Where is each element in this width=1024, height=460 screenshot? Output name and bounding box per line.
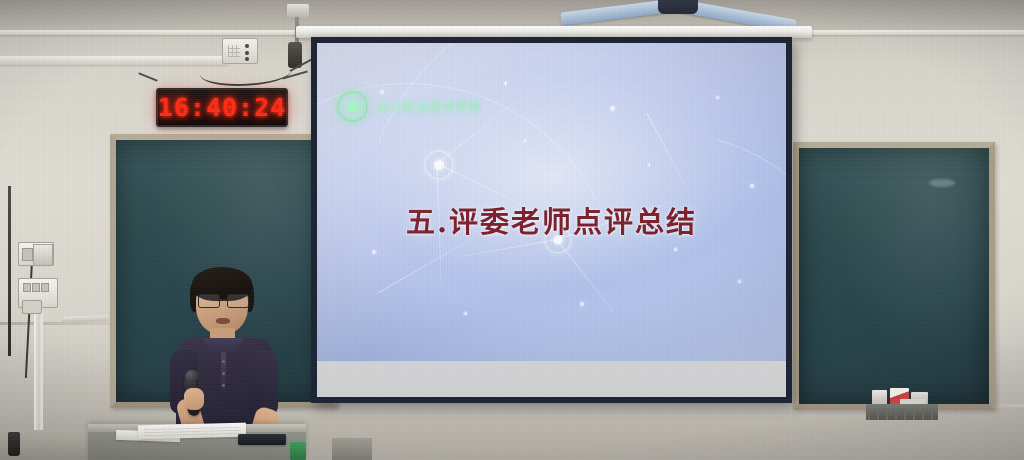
hand-left [184,388,204,410]
mouth [216,318,230,324]
green-object [290,442,306,460]
wall-conduit [0,56,228,65]
socket[interactable] [23,283,31,292]
socket[interactable] [32,283,40,292]
slide-logo: 长江职业技术学院 [337,91,481,122]
chalk-tray [866,404,938,420]
panel-button[interactable] [245,44,249,48]
blackboard-right [793,142,995,410]
classroom-scene: 16:40:24 [0,0,1024,460]
lens [198,294,220,308]
school-name-text: 长江职业技术学院 [377,98,481,115]
hanging-cable [8,186,11,356]
dark-cup [8,432,20,456]
phone-on-desk [238,434,286,445]
board-glare [799,148,989,404]
wall-trim-left [0,322,120,325]
shirt-button [222,372,225,375]
eyeglasses [198,294,247,306]
school-emblem-icon [337,91,368,122]
shirt-button [222,384,225,387]
switch[interactable] [22,248,33,261]
chair-backrest [332,438,372,460]
clock-time-display: 16:40:24 [158,93,286,122]
power-plug [22,300,42,314]
bridge [218,299,227,301]
socket[interactable] [41,283,49,292]
led-wall-clock: 16:40:24 [156,88,288,127]
chalk-smudge [929,179,955,187]
lens [227,294,249,308]
projection-screen: 长江职业技术学院 五.评委老师点评总结 [311,37,792,403]
projector-mount-bracket [287,4,309,18]
fan-motor-hub [658,0,698,14]
junction-box [33,244,53,266]
projected-slide: 长江职业技术学院 五.评委老师点评总结 [317,43,786,361]
slide-title: 五.评委老师点评总结 [317,199,786,241]
sleeve-right [248,350,278,416]
shirt-button [222,360,225,363]
panel-vent-grid [228,45,240,57]
panel-button[interactable] [245,51,249,55]
